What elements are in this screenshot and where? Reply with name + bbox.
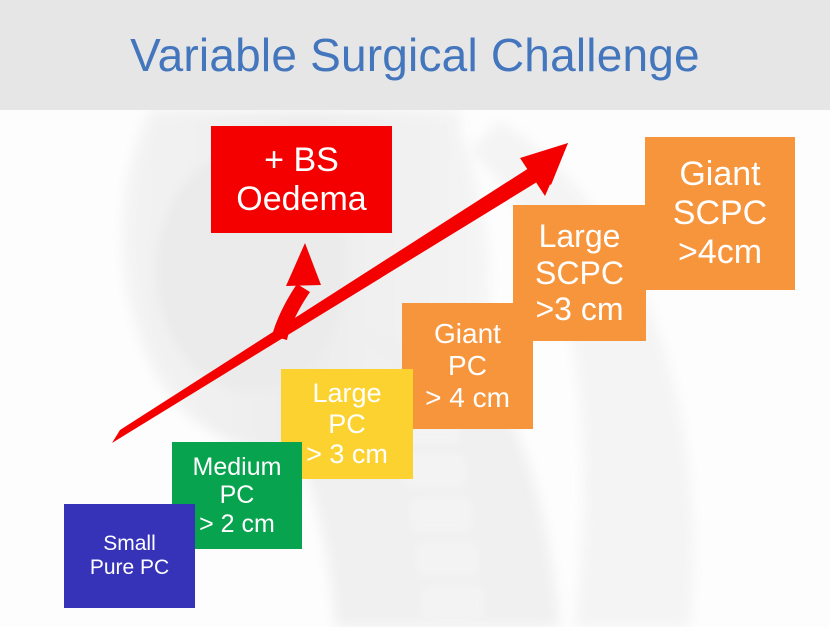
stage-box-bs-oedema[interactable]: + BS Oedema (211, 126, 392, 233)
stage-box-line: > 2 cm (199, 510, 275, 539)
stage-box-line: Giant (679, 155, 760, 194)
stage-box-line: >3 cm (535, 291, 623, 327)
stage-box-line: Large (539, 218, 621, 254)
brainstem-oedema-branch-arrow (272, 243, 321, 340)
slide: Variable Surgical Challenge (0, 0, 830, 627)
stage-box-line: SCPC (535, 255, 624, 291)
stage-box-line: Oedema (236, 180, 366, 219)
stage-box-line: > 3 cm (306, 439, 388, 470)
stage-box-line: + BS (264, 141, 339, 180)
stage-box-line: PC (328, 409, 366, 440)
stage-box-line: SCPC (673, 194, 767, 233)
stage-box-line: Pure PC (90, 556, 169, 580)
stage-box-line: Medium (193, 453, 282, 482)
diagram-stage: Giant SCPC >4cm Large SCPC >3 cm Giant P… (0, 0, 830, 627)
stage-box-giant-pc[interactable]: Giant PC > 4 cm (402, 303, 533, 429)
stage-box-line: PC (220, 481, 255, 510)
stage-box-line: Giant (434, 318, 501, 350)
stage-box-line: PC (448, 350, 487, 382)
stage-box-small-pure-pc[interactable]: Small Pure PC (64, 504, 195, 608)
stage-box-giant-scpc[interactable]: Giant SCPC >4cm (645, 137, 795, 290)
stage-box-line: Large (312, 378, 381, 409)
stage-box-line: > 4 cm (425, 382, 510, 414)
stage-box-line: Small (103, 532, 156, 556)
stage-box-line: >4cm (678, 233, 762, 272)
